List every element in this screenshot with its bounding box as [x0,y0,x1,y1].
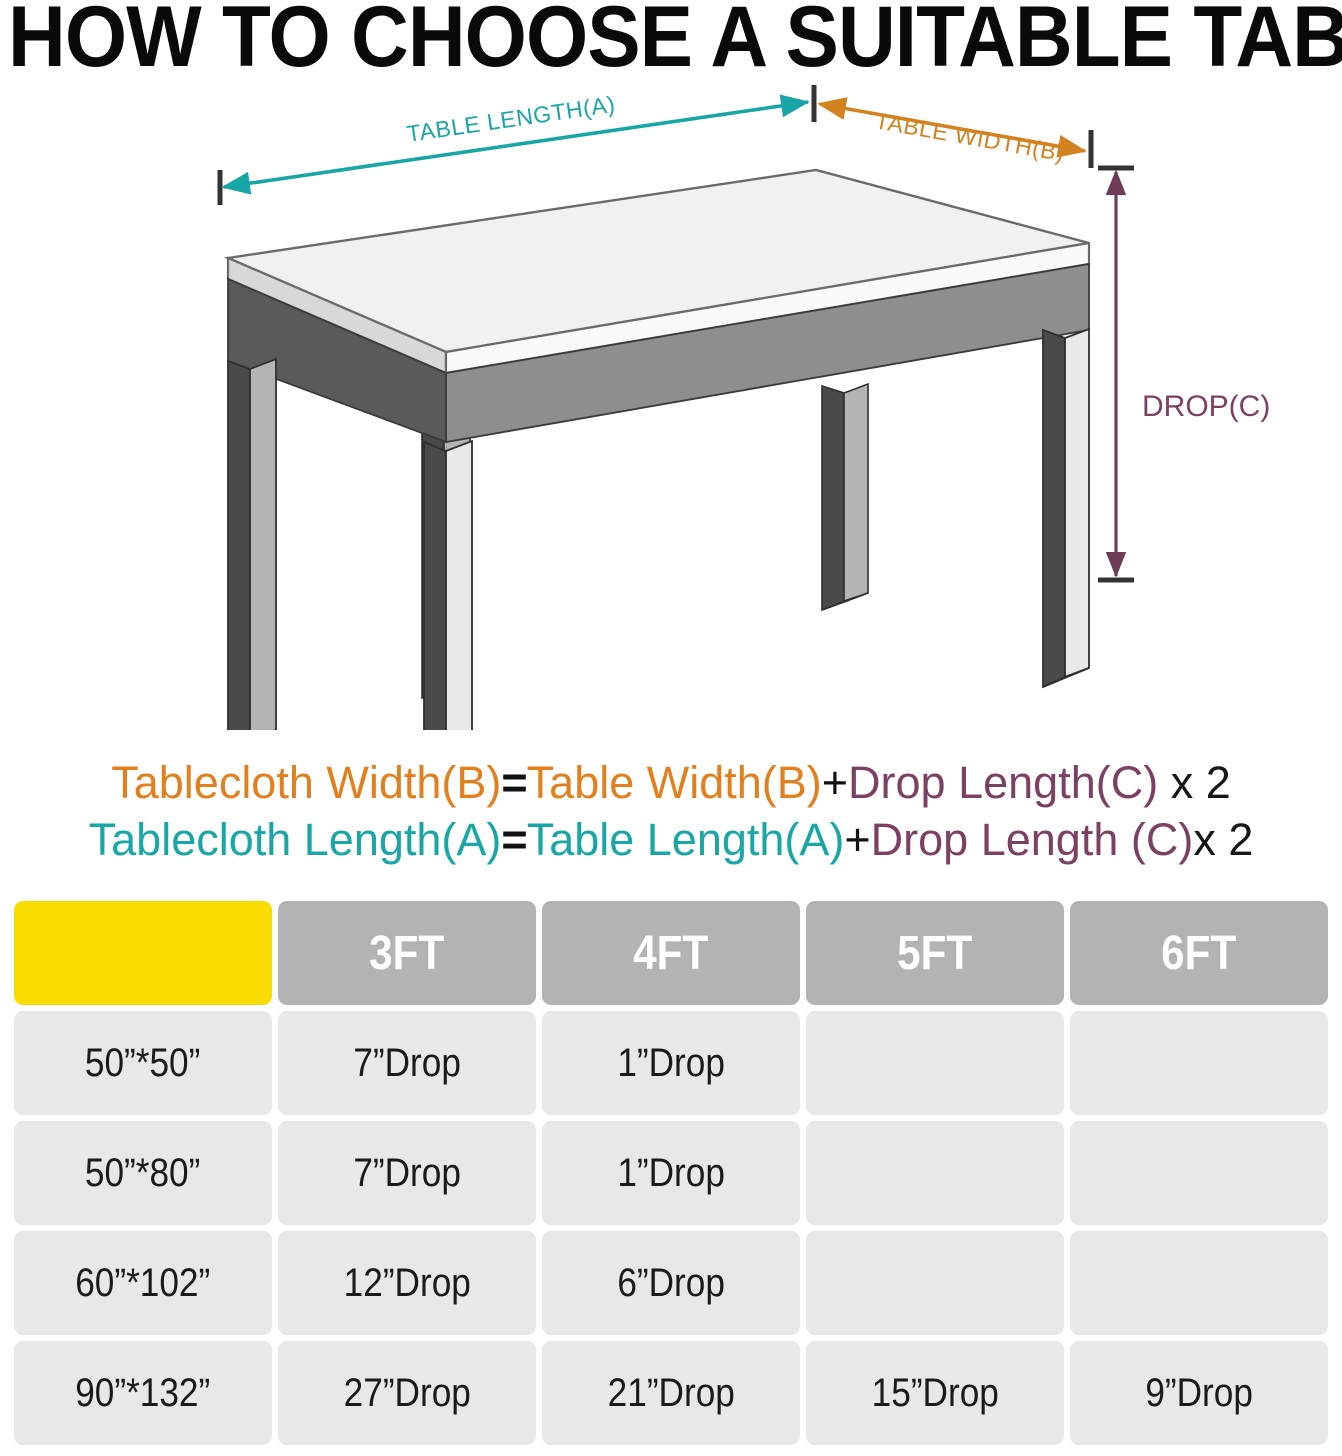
cell-0-1-text: 1”Drop [617,1041,725,1086]
cell-2-3 [1070,1231,1328,1335]
cell-3-0-text: 27”Drop [343,1371,470,1416]
cell-1-1: 1”Drop [542,1121,800,1225]
table-corner-cell [14,901,272,1005]
cell-2-0-text: 12”Drop [343,1261,470,1306]
table-leg-back-right [822,384,868,610]
column-header-5ft: 5FT [806,901,1064,1005]
page-title: HOW TO CHOOSE A SUITABLE TABLECLOTH? [8,0,1342,80]
cell-2-2 [806,1231,1064,1335]
table-row: 50”*50” 7”Drop 1”Drop [14,1011,1328,1115]
formula-width-seg-5: x 2 [1158,757,1231,808]
column-header-3ft-label: 3FT [369,926,444,981]
table-leg-front-left [228,359,276,730]
row-label-2-text: 60”*102” [75,1261,210,1306]
label-table-length: TABLE LENGTH(A) [405,91,617,147]
column-header-4ft: 4FT [542,901,800,1005]
formula-length-seg-2: Table Length(A) [527,814,845,865]
cell-3-0: 27”Drop [278,1341,536,1445]
cell-3-3: 9”Drop [1070,1341,1328,1445]
formula-length-seg-0: Tablecloth Length(A) [89,814,502,865]
cell-1-1-text: 1”Drop [617,1151,725,1196]
cell-3-3-text: 9”Drop [1145,1371,1253,1416]
formula-length-seg-5: x 2 [1193,814,1253,865]
row-label-2: 60”*102” [14,1231,272,1335]
row-label-1-text: 50”*80” [85,1151,200,1196]
label-drop: DROP(C) [1142,390,1270,423]
formula-width: Tablecloth Width(B)=Table Width(B)+Drop … [0,755,1342,811]
cell-0-3 [1070,1011,1328,1115]
cell-2-1-text: 6”Drop [617,1261,725,1306]
title-bar: HOW TO CHOOSE A SUITABLE TABLECLOTH? [0,0,1342,78]
table-row: 50”*80” 7”Drop 1”Drop [14,1121,1328,1225]
cell-2-0: 12”Drop [278,1231,536,1335]
formula-length-eq: = [501,814,526,865]
column-header-4ft-label: 4FT [633,926,708,981]
cell-0-2 [806,1011,1064,1115]
row-label-3: 90”*132” [14,1341,272,1445]
cell-1-3 [1070,1121,1328,1225]
formula-width-eq: = [501,757,526,808]
table-measurement-diagram: TABLE LENGTH(A) TABLE WIDTH(B) DROP(C) [0,80,1342,730]
table-header-row: 3FT 4FT 5FT 6FT [14,901,1328,1005]
formula-width-seg-0: Tablecloth Width(B) [111,757,501,808]
table-leg-front-center [424,441,472,730]
row-label-0-text: 50”*50” [85,1041,200,1086]
cell-3-2-text: 15”Drop [871,1371,998,1416]
label-table-width: TABLE WIDTH(B) [873,107,1067,166]
cell-1-0: 7”Drop [278,1121,536,1225]
formula-width-seg-2: Table Width(B) [527,757,822,808]
table-row: 90”*132” 27”Drop 21”Drop 15”Drop 9”Drop [14,1341,1328,1445]
row-label-3-text: 90”*132” [75,1371,210,1416]
column-header-6ft-label: 6FT [1161,926,1236,981]
column-header-5ft-label: 5FT [897,926,972,981]
cell-0-0: 7”Drop [278,1011,536,1115]
cell-0-0-text: 7”Drop [353,1041,461,1086]
column-header-3ft: 3FT [278,901,536,1005]
cell-1-2 [806,1121,1064,1225]
cell-1-0-text: 7”Drop [353,1151,461,1196]
row-label-0: 50”*50” [14,1011,272,1115]
row-label-1: 50”*80” [14,1121,272,1225]
table-row: 60”*102” 12”Drop 6”Drop [14,1231,1328,1335]
table-leg-front-right [1043,329,1089,687]
formula-length: Tablecloth Length(A)=Table Length(A)+Dro… [0,812,1342,868]
cell-3-1: 21”Drop [542,1341,800,1445]
formula-length-plus: + [844,814,870,865]
cell-2-1: 6”Drop [542,1231,800,1335]
cell-3-2: 15”Drop [806,1341,1064,1445]
formula-width-seg-4: Drop Length(C) [848,757,1158,808]
cell-3-1-text: 21”Drop [607,1371,734,1416]
tablecloth-size-table: 3FT 4FT 5FT 6FT 50”*50” 7”Drop 1”Drop 50… [8,895,1334,1451]
cell-0-1: 1”Drop [542,1011,800,1115]
formula-width-plus: + [822,757,848,808]
table-illustration [228,170,1089,730]
formula-length-seg-4: Drop Length (C) [871,814,1194,865]
column-header-6ft: 6FT [1070,901,1328,1005]
